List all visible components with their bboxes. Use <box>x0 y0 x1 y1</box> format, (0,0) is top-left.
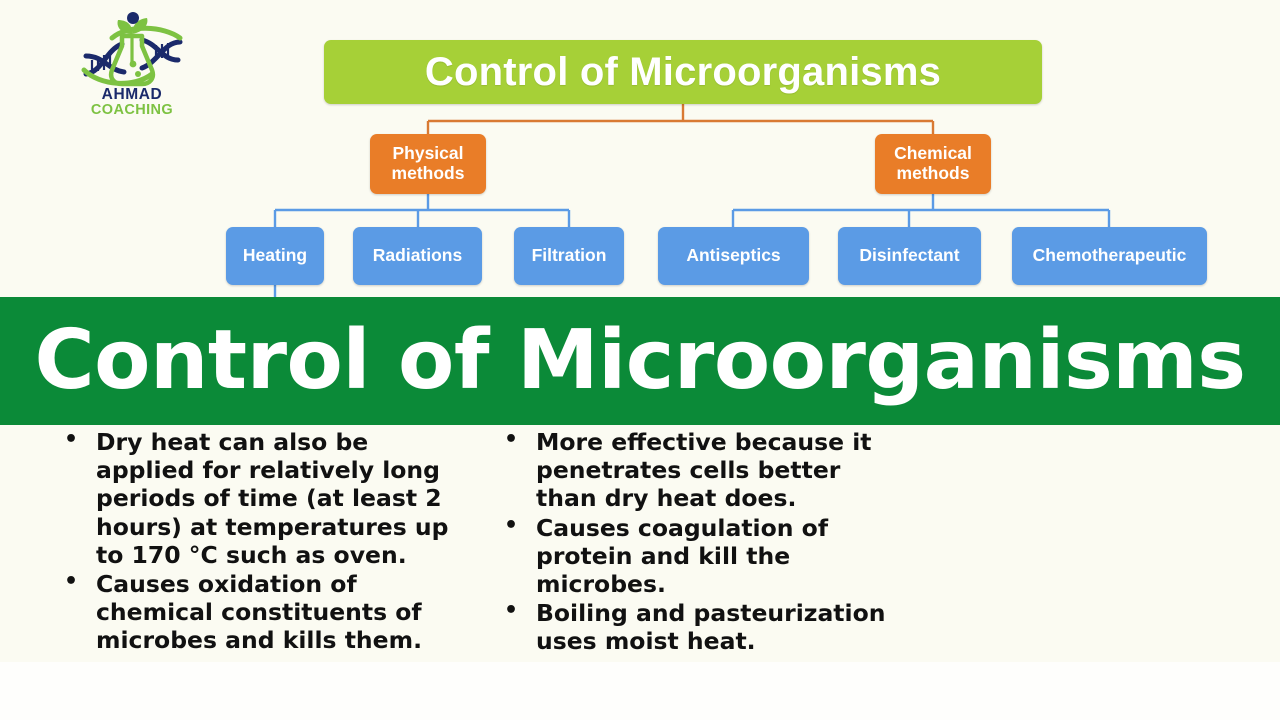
flow-node-root[interactable]: Control of Microorganisms <box>324 40 1042 104</box>
list-item: Boiling and pasteurization uses moist he… <box>488 599 888 655</box>
list-item: Causes coagulation of protein and kill t… <box>488 514 888 599</box>
list-item: Causes oxidation of chemical constituent… <box>48 570 468 655</box>
list-item: More effective because it penetrates cel… <box>488 428 888 513</box>
flow-node-chemotherapeutic[interactable]: Chemotherapeutic <box>1012 227 1207 285</box>
flow-node-disinfectant[interactable]: Disinfectant <box>838 227 981 285</box>
left-bullet-list: Dry heat can also be applied for relativ… <box>48 428 468 655</box>
left-bullet-column: Dry heat can also be applied for relativ… <box>48 420 468 680</box>
list-item: Dry heat can also be applied for relativ… <box>48 428 468 569</box>
video-title-text: Control of Microorganisms <box>34 320 1245 402</box>
flow-node-filtration[interactable]: Filtration <box>514 227 624 285</box>
right-bullet-list: More effective because it penetrates cel… <box>488 428 888 656</box>
flow-node-radiations[interactable]: Radiations <box>353 227 482 285</box>
flow-node-antiseptics[interactable]: Antiseptics <box>658 227 809 285</box>
flowchart: Control of Microorganisms Physical metho… <box>0 0 1280 300</box>
right-bullet-column: More effective because it penetrates cel… <box>488 420 888 680</box>
content-columns: Dry heat can also be applied for relativ… <box>0 420 1280 680</box>
flow-node-chemical-methods[interactable]: Chemical methods <box>875 134 991 194</box>
video-title-banner: Control of Microorganisms <box>0 297 1280 425</box>
slide-canvas: AHMAD COACHING <box>0 0 1280 720</box>
flow-node-physical-methods[interactable]: Physical methods <box>370 134 486 194</box>
bottom-margin-strip <box>0 662 1280 720</box>
flow-node-heating[interactable]: Heating <box>226 227 324 285</box>
